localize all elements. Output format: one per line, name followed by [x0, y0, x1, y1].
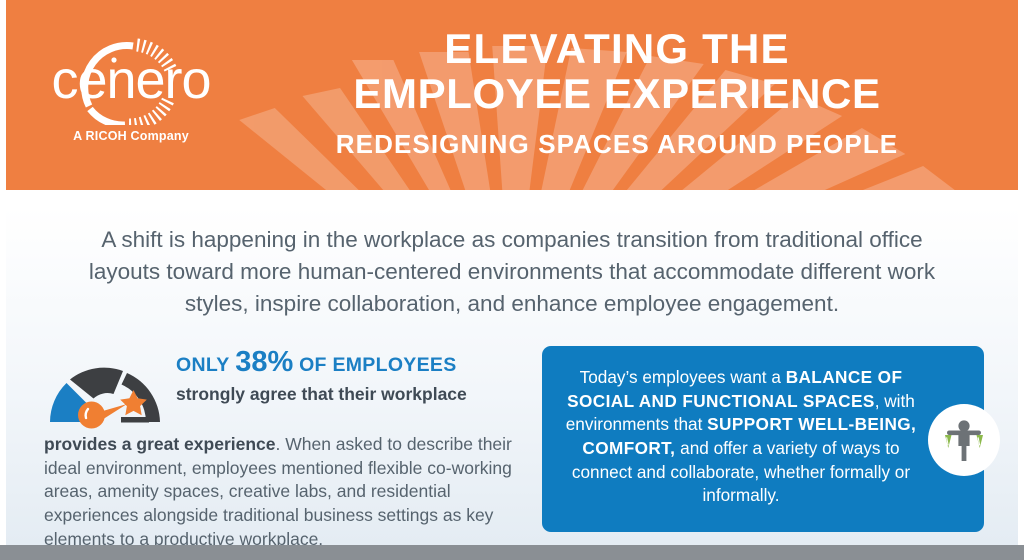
brand-logo[interactable]: cenero A RICOH Company: [6, 0, 256, 143]
statistic-body-lead: provides a great experience: [44, 434, 276, 454]
header-band: cenero A RICOH Company ELEVATING THE EMP…: [6, 0, 1018, 190]
infographic-card: cenero A RICOH Company ELEVATING THE EMP…: [0, 0, 1024, 545]
stat-value: 38%: [235, 346, 293, 378]
statistic-subheadline: strongly agree that their workplace: [176, 383, 518, 406]
stat-suffix: OF EMPLOYEES: [299, 354, 456, 376]
satisfaction-gauge-icon: [44, 352, 166, 430]
cenero-arc-logo-icon: cenero: [41, 30, 221, 125]
header-content: cenero A RICOH Company ELEVATING THE EMP…: [6, 0, 1018, 190]
header-subtitle: REDESIGNING SPACES AROUND PEOPLE: [256, 129, 978, 160]
title-line-1: ELEVATING THE: [256, 26, 978, 71]
header-title-block: ELEVATING THE EMPLOYEE EXPERIENCE REDESI…: [256, 0, 978, 160]
statistic-body: provides a great experience. When asked …: [44, 433, 518, 545]
bottom-chrome-bar: [0, 545, 1024, 560]
statistic-header: ONLY 38% OF EMPLOYEES strongly agree tha…: [44, 346, 518, 430]
title-line-2: EMPLOYEE EXPERIENCE: [256, 71, 978, 116]
callout-text-part1: Today’s employees want a: [580, 367, 786, 387]
intro-paragraph: A shift is happening in the workplace as…: [67, 224, 957, 320]
statistic-panel: ONLY 38% OF EMPLOYEES strongly agree tha…: [44, 346, 518, 545]
infographic-page: cenero A RICOH Company ELEVATING THE EMP…: [0, 0, 1024, 560]
stat-prefix: ONLY: [176, 354, 230, 376]
logo-tagline: A RICOH Company: [73, 129, 189, 143]
panels-row: ONLY 38% OF EMPLOYEES strongly agree tha…: [6, 346, 1018, 545]
balance-person-scales-icon: [928, 404, 1000, 476]
statistic-line: ONLY 38% OF EMPLOYEES: [176, 348, 518, 377]
svg-text:cenero: cenero: [51, 50, 210, 110]
balance-callout-box: Today’s employees want a BALANCE OF SOCI…: [542, 346, 984, 532]
statistic-headline: ONLY 38% OF EMPLOYEES strongly agree tha…: [176, 346, 518, 406]
